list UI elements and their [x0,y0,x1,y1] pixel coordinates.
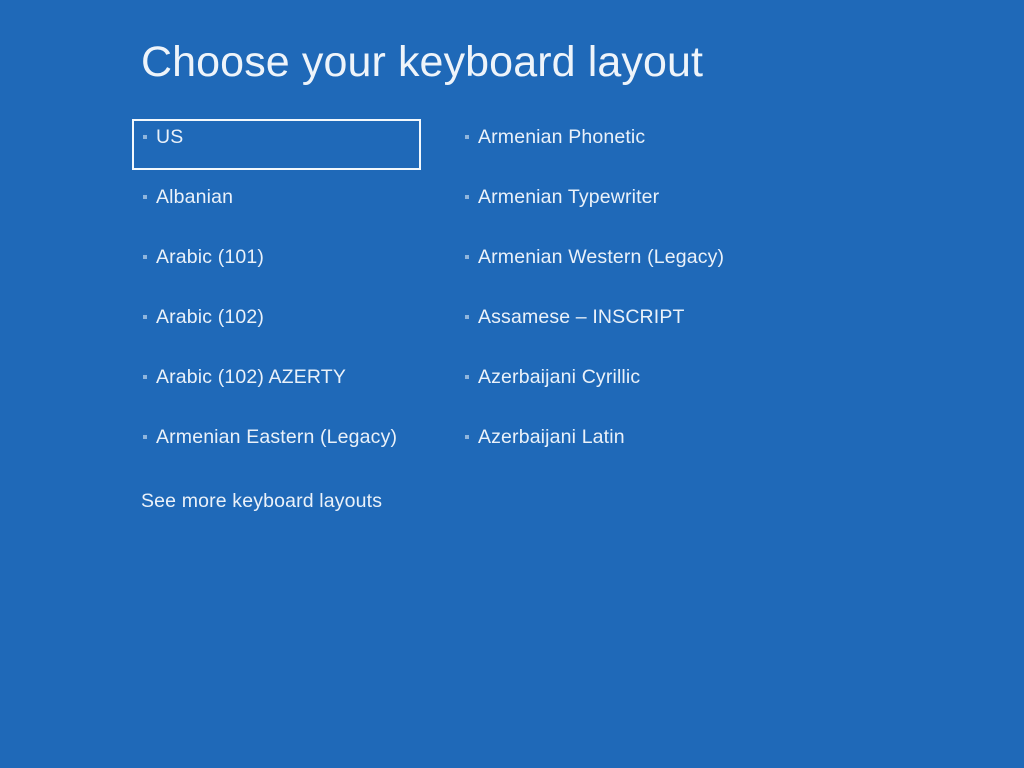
keyboard-layout-screen: Choose your keyboard layout USAlbanianAr… [0,0,1024,768]
layout-option-label: Armenian Phonetic [478,128,645,148]
bullet-icon [465,315,469,319]
layout-option[interactable]: Armenian Western (Legacy) [465,243,724,273]
layout-option[interactable]: Azerbaijani Cyrillic [465,363,640,393]
layout-option-label: Arabic (102) AZERTY [156,368,346,388]
layout-option-label: Armenian Western (Legacy) [478,248,724,268]
layout-option[interactable]: Armenian Phonetic [465,123,645,153]
keyboard-layout-list: USAlbanianArabic (101)Arabic (102)Arabic… [0,0,1024,768]
layout-option[interactable]: Arabic (102) [143,303,264,333]
layout-option[interactable]: Arabic (101) [143,243,264,273]
see-more-keyboard-layouts-link[interactable]: See more keyboard layouts [141,492,382,512]
layout-option-label: Assamese – INSCRIPT [478,308,685,328]
layout-option-label: Azerbaijani Cyrillic [478,368,640,388]
bullet-icon [143,195,147,199]
layout-option[interactable]: Assamese – INSCRIPT [465,303,685,333]
layout-option-label: Armenian Eastern (Legacy) [156,428,397,448]
layout-option-label: Armenian Typewriter [478,188,659,208]
bullet-icon [143,255,147,259]
bullet-icon [143,375,147,379]
bullet-icon [465,375,469,379]
bullet-icon [465,255,469,259]
layout-option[interactable]: Arabic (102) AZERTY [143,363,346,393]
bullet-icon [465,195,469,199]
bullet-icon [143,435,147,439]
layout-option[interactable]: Albanian [143,183,233,213]
bullet-icon [465,435,469,439]
layout-option-label: Arabic (102) [156,308,264,328]
layout-option[interactable]: Armenian Typewriter [465,183,659,213]
layout-option-label: Arabic (101) [156,248,264,268]
bullet-icon [465,135,469,139]
bullet-icon [143,315,147,319]
selected-layout-focus-ring [132,119,421,170]
layout-option-label: Azerbaijani Latin [478,428,625,448]
layout-option[interactable]: Armenian Eastern (Legacy) [143,423,397,453]
layout-option-label: Albanian [156,188,233,208]
layout-option[interactable]: Azerbaijani Latin [465,423,625,453]
